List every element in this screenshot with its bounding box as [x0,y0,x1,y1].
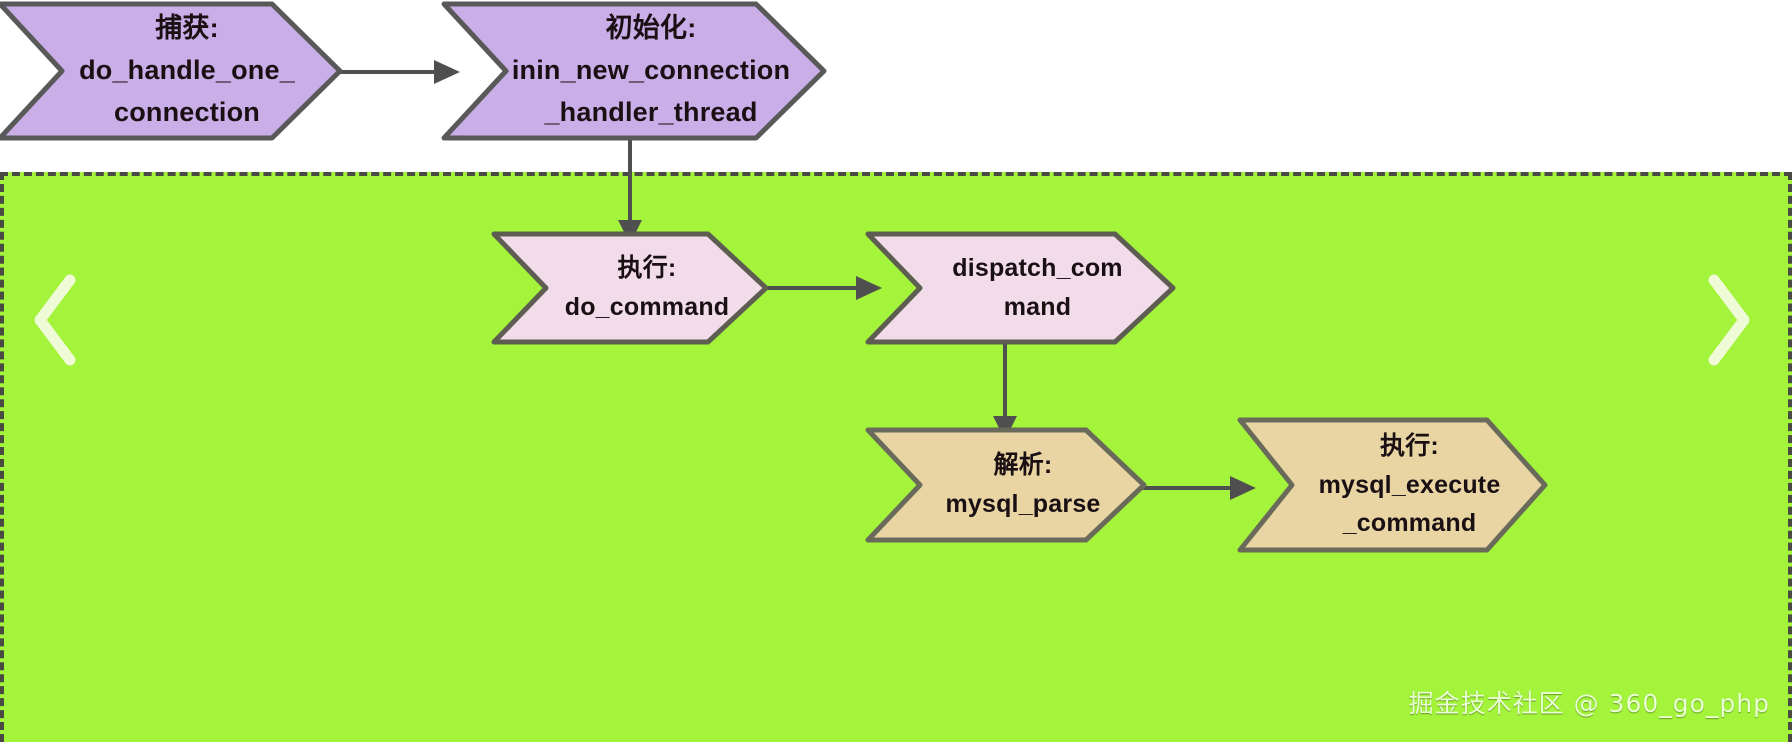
node-init[interactable]: 初始化: inin_new_connection _handler_thread [444,2,824,140]
watermark: 掘金技术社区 @ 360_go_php [1409,684,1770,720]
node-mysql-parse[interactable]: 解析: mysql_parse [868,428,1144,542]
node-capture[interactable]: 捕获: do_handle_one_ connection [0,2,340,140]
node-do-command[interactable]: 执行: do_command [494,232,766,344]
node-mysql-execute-command[interactable]: 执行: mysql_execute _command [1240,418,1545,552]
carousel-prev-icon[interactable] [28,270,84,370]
diagram-canvas: 捕获: do_handle_one_ connection 初始化: inin_… [0,0,1792,742]
node-dispatch-command[interactable]: dispatch_com mand [868,232,1173,344]
carousel-next-icon[interactable] [1700,270,1756,370]
edge-capture-to-init [330,50,460,94]
